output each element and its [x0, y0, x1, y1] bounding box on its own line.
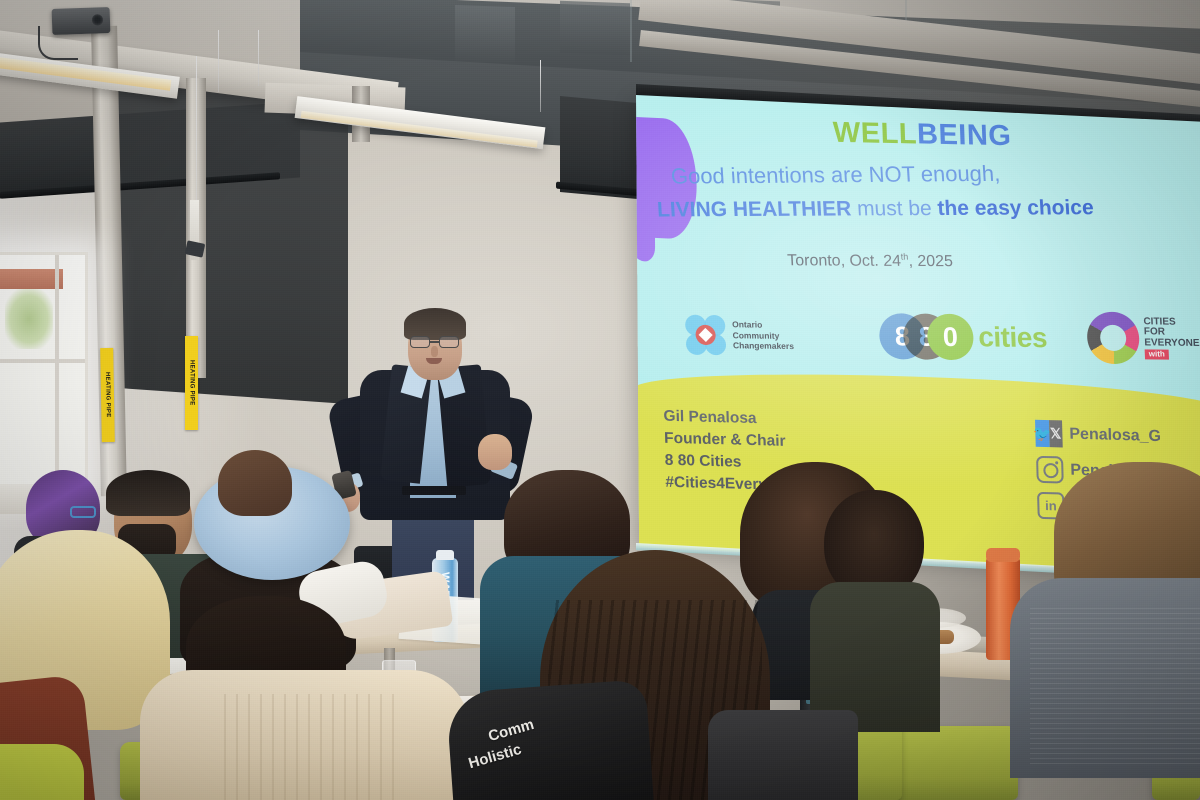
- short-hair-head: [218, 450, 292, 516]
- exterior-window: [0, 252, 88, 490]
- projector-cable: [38, 26, 78, 60]
- slide-subtitle-line1: Good intentions are NOT enough,: [670, 159, 1200, 190]
- projector-lens: [92, 14, 103, 25]
- logo-ontario-community-changemakers: Ontario Community Changemakers: [685, 315, 795, 356]
- grey-knit-texture: [1030, 608, 1200, 768]
- eyeglasses-icon: [70, 506, 96, 518]
- lamp-wire: [258, 30, 259, 86]
- 880-cities-wordmark: cities: [978, 321, 1048, 354]
- speaker-hand-right: [478, 434, 512, 470]
- safety-label-column-left: HEATING PIPE: [100, 348, 115, 442]
- headline-being: BEING: [917, 118, 1012, 152]
- lamp-wire: [540, 60, 541, 112]
- cfe-with-badge: with: [1145, 349, 1169, 359]
- ocm-line-1: Ontario: [732, 320, 793, 331]
- attendee-grey-sweater: [1000, 468, 1200, 768]
- twitter-bird-glyph: 🐦: [1035, 420, 1049, 447]
- slide-subtitle-line2: LIVING HEALTHIER must be the easy choice: [656, 196, 1200, 223]
- date-suffix: , 2025: [908, 253, 953, 270]
- window-mullion: [55, 255, 59, 487]
- logo-880-cities: 8 8 0 cities: [878, 313, 1047, 361]
- speaker-belt: [402, 486, 466, 495]
- slide-date: Toronto, Oct. 24th, 2025: [787, 251, 1200, 273]
- x-glyph: 𝕏: [1049, 420, 1063, 447]
- blonde-yellow-top: [0, 744, 84, 800]
- wall-dark-panel: [118, 78, 348, 404]
- attendee-braids: Comm Holistic: [440, 560, 840, 800]
- subtitle-must-be: must be: [851, 197, 939, 220]
- duct-vane: [455, 5, 515, 63]
- slide-headline: WELLBEING: [636, 113, 1200, 157]
- window-view-foliage: [5, 289, 53, 349]
- twitter-handle: Penalosa_G: [1069, 425, 1161, 445]
- subtitle-living-healthier: LIVING HEALTHIER: [656, 197, 851, 221]
- ocm-line-3: Changemakers: [733, 340, 794, 351]
- conference-room-photo: HEATING PIPE HEATING PIPE WELLBEING Good…: [0, 0, 1200, 800]
- attendee-olive-top: [840, 490, 960, 710]
- ocm-line-2: Community: [732, 330, 793, 341]
- safety-label-column-mid: HEATING PIPE: [185, 336, 198, 430]
- date-prefix: Toronto, Oct. 24: [787, 252, 902, 270]
- cfe-line-3: EVERYONE: [1144, 338, 1200, 349]
- cfe-swirl-icon: [1086, 312, 1140, 365]
- braids-attendee-shoulder: [708, 710, 858, 800]
- attendee-cream-sweater: [140, 610, 470, 800]
- window-view-roof: [0, 269, 63, 289]
- black-jacket: [446, 679, 655, 800]
- attendee-short-hair: [210, 450, 300, 530]
- 880-venn-icon: 8 8 0: [878, 313, 974, 360]
- knit-texture: [214, 694, 404, 800]
- logo-cities-for-everyone: CITIES FOR EVERYONE with: [1086, 312, 1200, 365]
- twitter-x-icon: 🐦 𝕏: [1035, 420, 1063, 448]
- window-mullion: [0, 359, 85, 363]
- water-carton-cap: [436, 550, 454, 560]
- speaker-nose: [431, 346, 438, 357]
- lamp-wire: [218, 30, 219, 92]
- slide-logo-row: Ontario Community Changemakers 8 8 0 cit…: [666, 304, 1200, 381]
- cfe-wordmark: CITIES FOR EVERYONE with: [1143, 317, 1200, 359]
- social-row-twitter: 🐦 𝕏 Penalosa_G: [1035, 420, 1200, 452]
- ocm-wordmark: Ontario Community Changemakers: [732, 320, 794, 352]
- headline-well: WELL: [832, 117, 917, 151]
- subtitle-easy-choice: the easy choice: [937, 196, 1095, 220]
- ocm-flower-icon: [685, 315, 727, 356]
